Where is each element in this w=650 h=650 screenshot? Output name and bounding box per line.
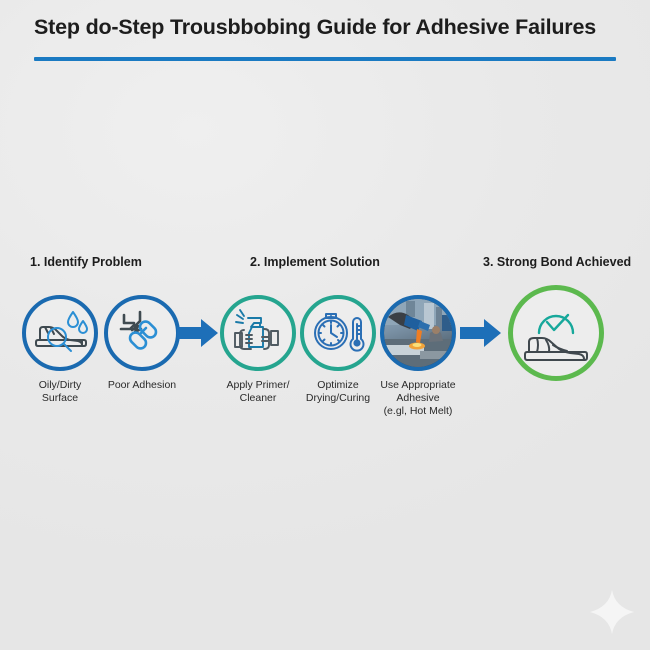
four-point-star-sparkle-icon [588,588,636,636]
shoe-checkmark-icon [513,290,599,376]
icon-ring-photo [380,295,456,371]
section-heading-identify: 1. Identify Problem [30,255,142,269]
node-label: Poor Adhesion [82,379,202,392]
node-strong-bond-result[interactable] [496,285,616,389]
broken-chain-link-icon [108,299,176,367]
icon-ring-blue [104,295,180,371]
glue-gun-photo [384,299,452,367]
icon-ring-green [508,285,604,381]
infographic-canvas: Step do-Step Trousbbobing Guide for Adhe… [0,0,650,650]
section-heading-implement: 2. Implement Solution [250,255,380,269]
node-use-appropriate-adhesive[interactable]: Use Appropriate Adhesive (e.gl, Hot Melt… [358,295,478,418]
section-heading-result: 3. Strong Bond Achieved [483,255,631,269]
title-underline-rule [34,57,616,61]
node-label: Use Appropriate Adhesive (e.gl, Hot Melt… [358,379,478,418]
page-title: Step do-Step Trousbbobing Guide for Adhe… [34,15,634,40]
